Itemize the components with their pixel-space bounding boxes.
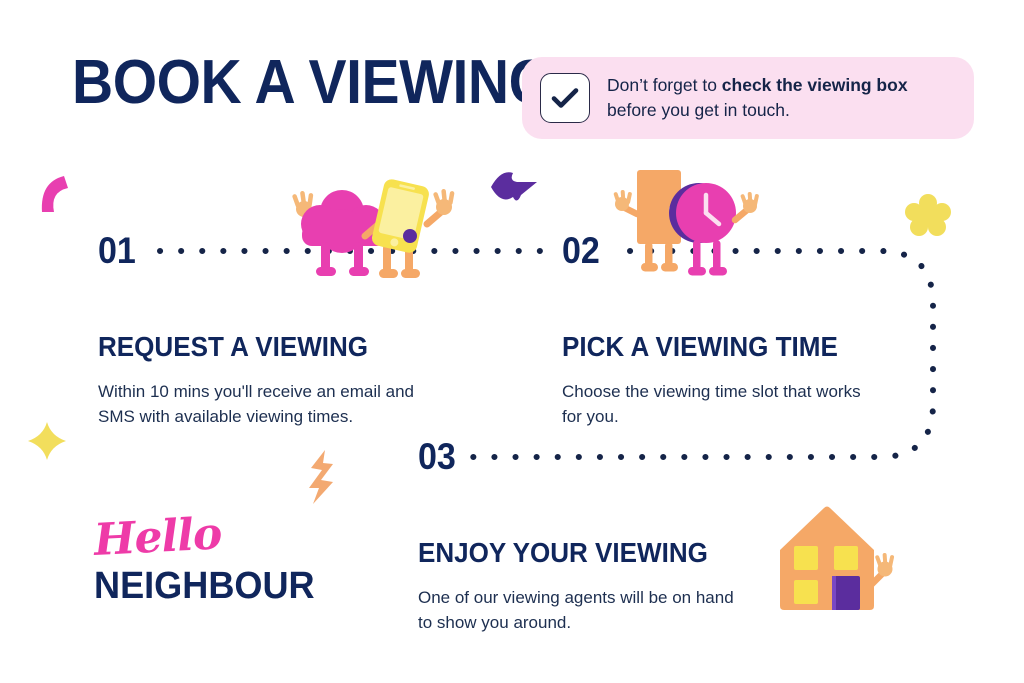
yellow-flower-decoration — [906, 193, 950, 237]
purple-arrow-decoration — [487, 167, 542, 209]
step-03-heading: ENJOY YOUR VIEWING — [418, 538, 725, 568]
step-02-heading: PICK A VIEWING TIME — [562, 332, 841, 362]
step-03-body: One of our viewing agents will be on han… — [418, 585, 748, 635]
step-03: 03 ENJOY YOUR VIEWING One of our viewing… — [418, 438, 748, 635]
step-02: 02 PICK A VIEWING TIME Choose the viewin… — [562, 232, 862, 429]
step-02-body: Choose the viewing time slot that works … — [562, 379, 862, 429]
yellow-sparkle-decoration — [26, 420, 68, 462]
step-01-body: Within 10 mins you'll receive an email a… — [98, 379, 414, 429]
logo-block-word: NEIGHBOUR — [94, 566, 315, 606]
logo-script-word: Hello — [93, 506, 327, 564]
house-illustration — [770, 498, 895, 616]
step-01-number: 01 — [98, 232, 389, 269]
pink-arc-decoration — [34, 168, 74, 218]
step-01-heading: REQUEST A VIEWING — [98, 332, 392, 362]
infographic-canvas: BOOK A VIEWING Don’t forget to check the… — [0, 0, 1024, 683]
brand-logo: Hello NEIGHBOUR — [94, 518, 326, 606]
orange-zigzag-decoration — [305, 448, 339, 506]
step-01: 01 REQUEST A VIEWING Within 10 mins you'… — [98, 232, 414, 429]
step-02-number: 02 — [562, 232, 838, 269]
step-03-number: 03 — [418, 438, 722, 475]
